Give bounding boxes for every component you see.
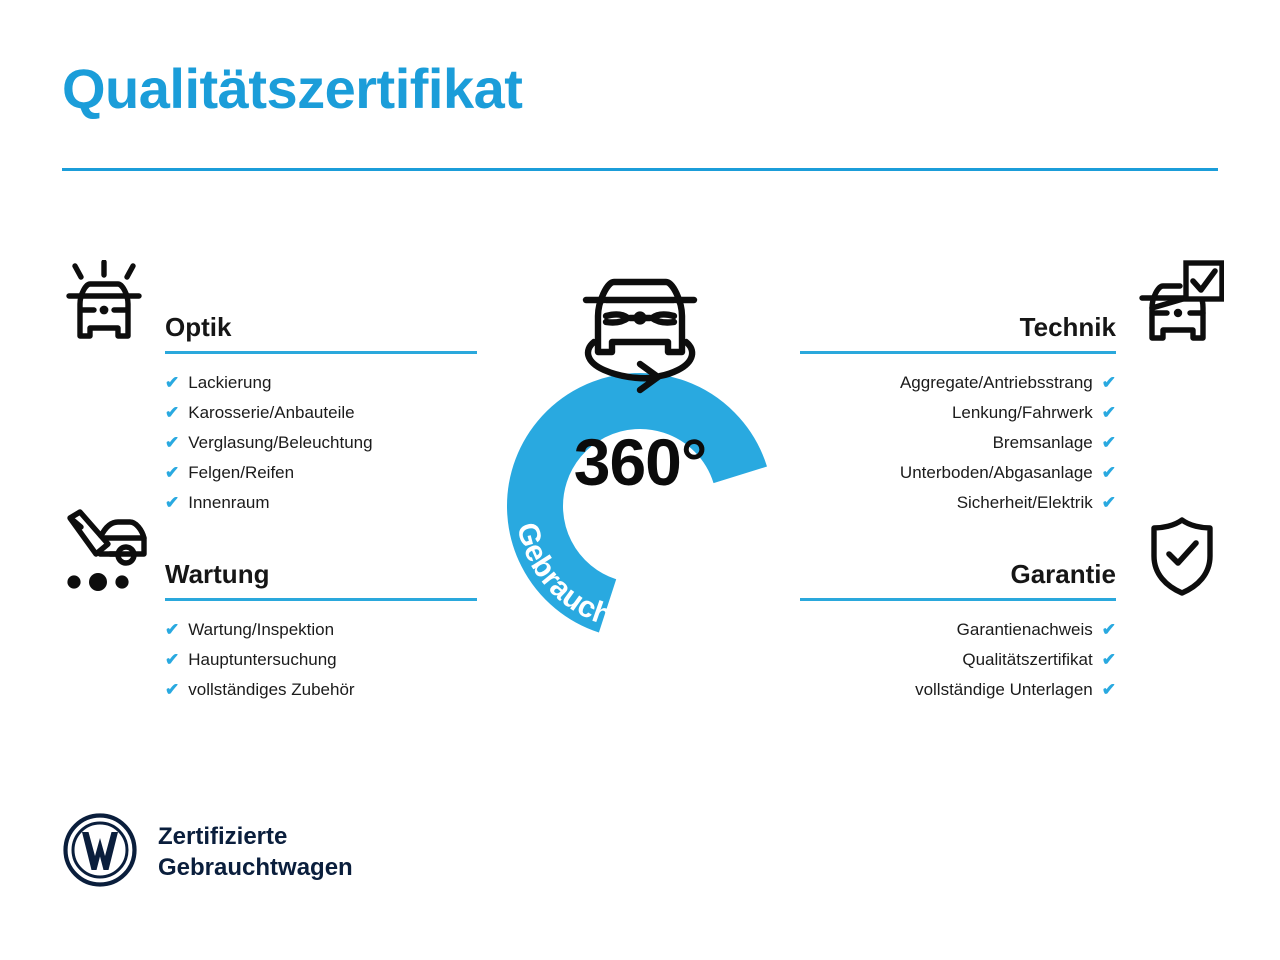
car-shine-icon — [60, 260, 148, 355]
list-item: Garantienachweis✔ — [800, 615, 1116, 645]
checklist-garantie: Garantienachweis✔ Qualitätszertifikat✔ v… — [800, 615, 1116, 705]
list-item-label: Qualitätszertifikat — [962, 645, 1092, 675]
list-item: Aggregate/Antriebsstrang✔ — [800, 368, 1116, 398]
car-checkbox-icon — [1136, 260, 1224, 355]
list-item-label: Sicherheit/Elektrik — [957, 488, 1093, 518]
section-divider-technik — [800, 351, 1116, 354]
section-divider-optik — [165, 351, 477, 354]
list-item-label: Lackierung — [188, 368, 271, 398]
section-technik: Technik Aggregate/Antriebsstrang✔ Lenkun… — [800, 296, 1116, 534]
check-icon: ✔ — [165, 458, 179, 488]
check-icon: ✔ — [165, 675, 179, 705]
badge-value: 360° — [468, 424, 812, 500]
list-item: ✔Karosserie/Anbauteile — [165, 398, 477, 428]
badge-360-check: Gebrauchtwagen-Check — [468, 248, 812, 644]
list-item: Qualitätszertifikat✔ — [800, 645, 1116, 675]
check-icon: ✔ — [1102, 615, 1116, 645]
list-item: Bremsanlage✔ — [800, 428, 1116, 458]
section-divider-wartung — [165, 598, 477, 601]
check-icon: ✔ — [165, 428, 179, 458]
list-item: vollständige Unterlagen✔ — [800, 675, 1116, 705]
list-item-label: Karosserie/Anbauteile — [188, 398, 354, 428]
list-item: ✔Hauptuntersuchung — [165, 645, 477, 675]
checklist-optik: ✔Lackierung ✔Karosserie/Anbauteile ✔Verg… — [165, 368, 477, 518]
list-item: ✔Lackierung — [165, 368, 477, 398]
volkswagen-logo — [62, 812, 138, 893]
brand-wordmark-line1: Zertifizierte — [158, 823, 287, 850]
title-divider — [62, 168, 1218, 171]
check-icon: ✔ — [1102, 488, 1116, 518]
list-item-label: Bremsanlage — [993, 428, 1093, 458]
check-icon: ✔ — [165, 398, 179, 428]
check-icon: ✔ — [165, 615, 179, 645]
section-header: Wartung — [165, 543, 477, 587]
footer-brand: Zertifizierte Gebrauchtwagen — [62, 812, 353, 893]
section-optik: Optik ✔Lackierung ✔Karosserie/Anbauteile… — [165, 296, 477, 534]
list-item: Unterboden/Abgasanlage✔ — [800, 458, 1116, 488]
section-title-garantie: Garantie — [1011, 561, 1117, 587]
page-title: Qualitätszertifikat — [62, 58, 522, 120]
section-header: Garantie — [800, 543, 1116, 587]
list-item-label: Innenraum — [188, 488, 269, 518]
shield-check-icon — [1148, 516, 1216, 601]
list-item-label: vollständige Unterlagen — [915, 675, 1093, 705]
list-item-label: Aggregate/Antriebsstrang — [900, 368, 1093, 398]
list-item: ✔vollständiges Zubehör — [165, 675, 477, 705]
check-icon: ✔ — [165, 488, 179, 518]
list-item-label: Verglasung/Beleuchtung — [188, 428, 372, 458]
list-item: ✔Wartung/Inspektion — [165, 615, 477, 645]
list-item-label: Hauptuntersuchung — [188, 645, 336, 675]
list-item: ✔Felgen/Reifen — [165, 458, 477, 488]
check-icon: ✔ — [165, 645, 179, 675]
list-item-label: Unterboden/Abgasanlage — [900, 458, 1093, 488]
list-item: ✔Innenraum — [165, 488, 477, 518]
list-item-label: Felgen/Reifen — [188, 458, 294, 488]
list-item-label: Lenkung/Fahrwerk — [952, 398, 1093, 428]
check-icon: ✔ — [1102, 458, 1116, 488]
check-icon: ✔ — [1102, 368, 1116, 398]
section-title-wartung: Wartung — [165, 561, 269, 587]
section-header: Technik — [800, 296, 1116, 340]
list-item: Lenkung/Fahrwerk✔ — [800, 398, 1116, 428]
section-garantie: Garantie Garantienachweis✔ Qualitätszert… — [800, 543, 1116, 721]
section-title-optik: Optik — [165, 314, 231, 340]
certificate-page: Qualitätszertifikat — [0, 0, 1280, 960]
check-icon: ✔ — [1102, 675, 1116, 705]
check-icon: ✔ — [1102, 428, 1116, 458]
brand-wordmark: Zertifizierte Gebrauchtwagen — [158, 822, 353, 882]
check-icon: ✔ — [1102, 645, 1116, 675]
section-header: Optik — [165, 296, 477, 340]
list-item: ✔Verglasung/Beleuchtung — [165, 428, 477, 458]
car-service-tool-icon — [60, 508, 152, 601]
brand-wordmark-line2: Gebrauchtwagen — [158, 854, 353, 881]
section-wartung: Wartung ✔Wartung/Inspektion ✔Hauptunters… — [165, 543, 477, 721]
checklist-wartung: ✔Wartung/Inspektion ✔Hauptuntersuchung ✔… — [165, 615, 477, 705]
check-icon: ✔ — [1102, 398, 1116, 428]
section-title-technik: Technik — [1020, 314, 1116, 340]
list-item-label: vollständiges Zubehör — [188, 675, 354, 705]
list-item-label: Wartung/Inspektion — [188, 615, 334, 645]
checklist-technik: Aggregate/Antriebsstrang✔ Lenkung/Fahrwe… — [800, 368, 1116, 518]
list-item: Sicherheit/Elektrik✔ — [800, 488, 1116, 518]
check-icon: ✔ — [165, 368, 179, 398]
section-divider-garantie — [800, 598, 1116, 601]
list-item-label: Garantienachweis — [957, 615, 1093, 645]
